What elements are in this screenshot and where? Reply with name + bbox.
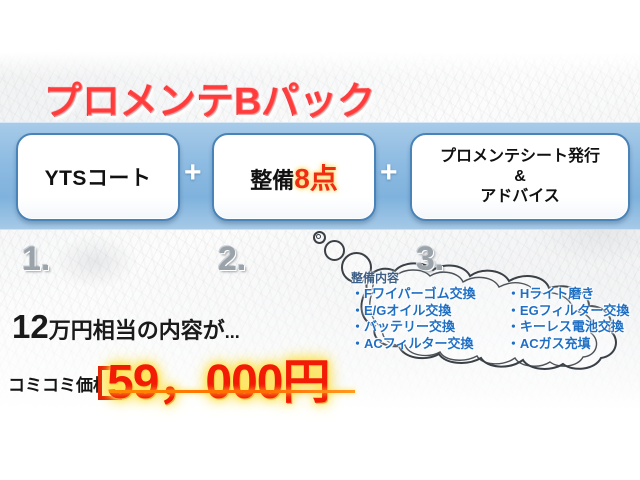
service-list-column-right: ・Hライト磨き ・EGフィルター交換 ・キーレス電池交換 ・ACガス充填 (507, 287, 640, 351)
step-1-label: YTSコート (45, 162, 152, 192)
service-list-heading: 整備内容 (351, 269, 640, 286)
step-card-1[interactable]: YTSコート (16, 133, 180, 221)
price-underline (109, 390, 355, 393)
price-block: 59，000円 (107, 348, 357, 393)
thought-trail-dot-2 (324, 240, 345, 261)
step-3-label: プロメンテシート発行 & アドバイス (440, 147, 600, 207)
service-list-bubble: 整備内容 ・Fワイパーゴム交換 ・E/Gオイル交換 ・バッテリー交換 ・ACフィ… (333, 262, 640, 374)
list-item: ・ACフィルター交換 (351, 337, 501, 352)
service-list-content: 整備内容 ・Fワイパーゴム交換 ・E/Gオイル交換 ・バッテリー交換 ・ACフィ… (351, 269, 640, 351)
step-2-label-plain: 整備 (250, 168, 294, 193)
step-2-label: 整備8点 (250, 157, 338, 197)
value-text: 万円相当の内容が (49, 318, 225, 343)
list-item: ・ACガス充填 (507, 337, 640, 352)
list-item: ・Hライト磨き (507, 287, 640, 302)
thought-trail-dot-1-inner (316, 234, 321, 239)
step-card-2[interactable]: 整備8点 (212, 133, 376, 221)
value-amount: 12 (12, 308, 49, 345)
service-list-columns: ・Fワイパーゴム交換 ・E/Gオイル交換 ・バッテリー交換 ・ACフィルター交換… (351, 287, 640, 351)
price-label: コミコミ価格 (8, 371, 110, 396)
service-list-column-left: ・Fワイパーゴム交換 ・E/Gオイル交換 ・バッテリー交換 ・ACフィルター交換 (351, 287, 501, 351)
step-3-line-3: アドバイス (480, 188, 560, 205)
promotion-banner: プロメンテBパック YTSコート 1. 整備8点 2. プロメンテシート発行 &… (0, 0, 640, 480)
step-2-label-highlight: 8点 (294, 163, 338, 194)
step-card-3[interactable]: プロメンテシート発行 & アドバイス (410, 133, 630, 221)
list-item: ・バッテリー交換 (351, 320, 501, 335)
list-item: ・E/Gオイル交換 (351, 304, 501, 319)
list-item: ・EGフィルター交換 (507, 304, 640, 319)
step-3-line-2: & (514, 168, 526, 185)
page-title: プロメンテBパック (44, 70, 375, 125)
list-item: ・Fワイパーゴム交換 (351, 287, 501, 302)
list-item: ・キーレス電池交換 (507, 320, 640, 335)
steps-band: YTSコート 1. 整備8点 2. プロメンテシート発行 & アドバイス 3. (0, 122, 640, 230)
price-amount: 59，000円 (107, 342, 329, 412)
value-ellipsis: ... (225, 322, 240, 342)
plus-separator-1: + (184, 156, 202, 190)
step-3-line-1: プロメンテシート発行 (440, 148, 600, 165)
value-statement: 12万円相当の内容が... (12, 308, 240, 346)
plus-separator-2: + (380, 156, 398, 190)
